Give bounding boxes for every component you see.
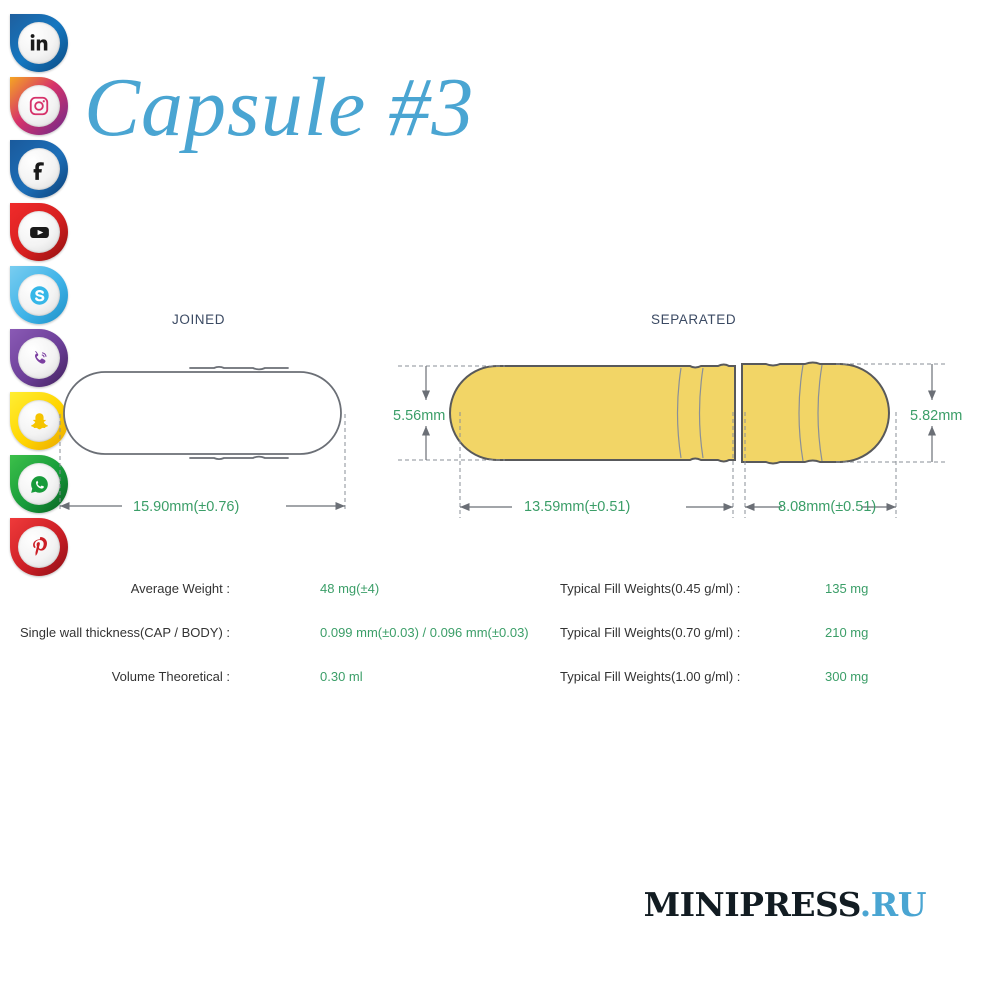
instagram-icon <box>18 85 60 127</box>
spec-row: Typical Fill Weights(0.45 g/ml) : 135 mg <box>560 566 990 610</box>
spec-row: Single wall thickness(CAP / BODY) : 0.09… <box>0 610 560 654</box>
body-length-text: 13.59mm(±0.51) <box>524 499 630 515</box>
joined-capsule-outline <box>64 367 341 459</box>
logo-tld-text: .RU <box>860 885 926 924</box>
spec-key: Typical Fill Weights(0.70 g/ml) : <box>560 625 760 640</box>
site-logo[interactable]: MINIPRESS.RU <box>644 885 926 924</box>
spec-column-left: Average Weight : 48 mg(±4) Single wall t… <box>0 566 560 698</box>
separated-cap-shape <box>742 363 889 464</box>
spec-key: Volume Theoretical : <box>0 669 230 684</box>
spec-value: 48 mg(±4) <box>230 581 379 596</box>
joined-length-text: 15.90mm(±0.76) <box>133 499 239 515</box>
spec-column-right: Typical Fill Weights(0.45 g/ml) : 135 mg… <box>560 566 990 698</box>
page-root: Capsule #3 JOINED SEPARATED <box>0 0 1000 1000</box>
linkedin-icon <box>18 22 60 64</box>
social-button-instagram[interactable] <box>10 77 68 135</box>
social-button-facebook[interactable] <box>10 140 68 198</box>
social-button-linkedin[interactable] <box>10 14 68 72</box>
spec-key: Average Weight : <box>0 581 230 596</box>
spec-key: Typical Fill Weights(1.00 g/ml) : <box>560 669 760 684</box>
logo-brand-text: MINIPRESS <box>644 885 860 924</box>
facebook-icon <box>18 148 60 190</box>
social-button-youtube[interactable] <box>10 203 68 261</box>
capsule-diagram: JOINED SEPARATED <box>0 296 1000 546</box>
spec-value: 0.099 mm(±0.03) / 0.096 mm(±0.03) <box>230 625 529 640</box>
spec-row: Volume Theoretical : 0.30 ml <box>0 654 560 698</box>
page-title: Capsule #3 <box>84 66 474 150</box>
cap-length-text: 8.08mm(±0.51) <box>778 499 876 515</box>
separated-body-shape <box>450 365 735 462</box>
spec-value: 300 mg <box>760 669 868 684</box>
spec-row: Typical Fill Weights(1.00 g/ml) : 300 mg <box>560 654 990 698</box>
spec-row: Average Weight : 48 mg(±4) <box>0 566 560 610</box>
body-height-text: 5.56mm <box>393 408 445 424</box>
spec-key: Typical Fill Weights(0.45 g/ml) : <box>560 581 760 596</box>
spec-key: Single wall thickness(CAP / BODY) : <box>0 625 230 640</box>
spec-value: 135 mg <box>760 581 868 596</box>
spec-value: 0.30 ml <box>230 669 363 684</box>
spec-value: 210 mg <box>760 625 868 640</box>
cap-height-text: 5.82mm <box>910 408 962 424</box>
spec-row: Typical Fill Weights(0.70 g/ml) : 210 mg <box>560 610 990 654</box>
youtube-icon <box>18 211 60 253</box>
